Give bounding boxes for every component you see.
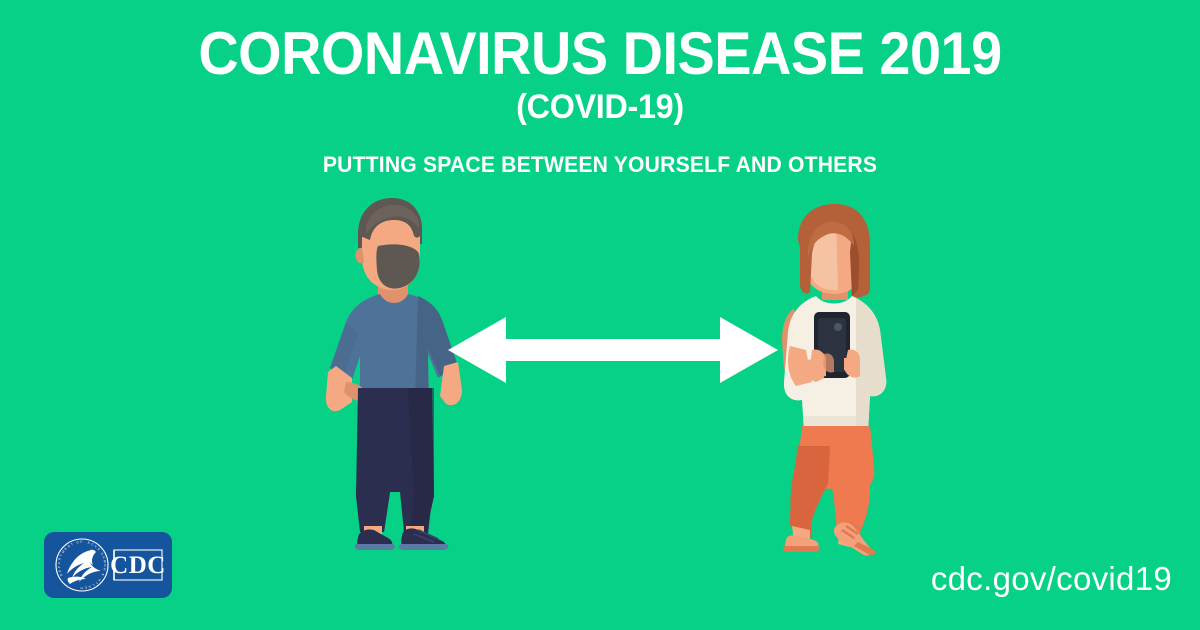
svg-text:H: H [80,586,82,590]
social-distance-arrow [448,311,778,389]
double-headed-distance-arrow-icon [448,311,778,389]
page-subtitle: (COVID-19) [30,88,1170,127]
cdc-logo[interactable]: D E P A R T M E N T O F H E A L T H & H [44,532,172,598]
cdc-logo-icon[interactable]: D E P A R T M E N T O F H E A L T H & H [44,532,172,598]
covid-social-distancing-poster: CORONAVIRUS DISEASE 2019 (COVID-19) PUTT… [0,0,1200,630]
illustration-person-left [322,196,462,556]
cdc-website-url[interactable]: cdc.gov/covid19 [931,560,1172,598]
page-title: CORONAVIRUS DISEASE 2019 [42,22,1158,85]
svg-text:U: U [103,564,107,566]
illustration-person-right [764,200,904,556]
cdc-logo-text: CDC [110,552,166,579]
tagline: PUTTING SPACE BETWEEN YOURSELF AND OTHER… [24,152,1176,178]
